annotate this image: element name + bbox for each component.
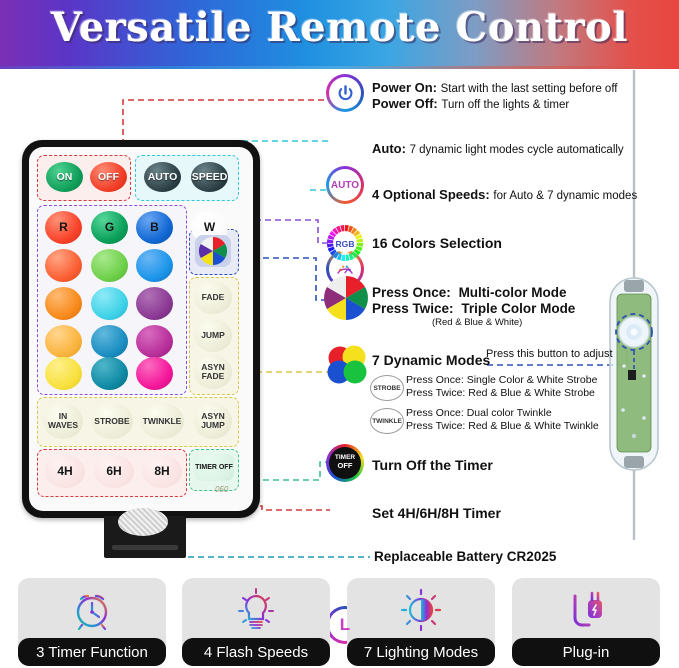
strobe-badge-icon: STROBE — [370, 375, 404, 401]
remote-button-on[interactable]: ON — [46, 162, 83, 192]
remote-button-twinkle[interactable]: TWINKLE — [140, 403, 184, 439]
auto-line: Auto: 7 dynamic light modes cycle automa… — [372, 141, 624, 156]
battery-note-label: Replaceable Battery CR2025 — [374, 549, 556, 564]
triple-color-note: (Red & Blue & White) — [432, 317, 522, 328]
alarm-clock-icon — [18, 582, 166, 638]
color-pie-icon — [198, 236, 228, 266]
remote-button-strobe[interactable]: STROBE — [91, 403, 133, 439]
adjust-callout: Press this button to adjust — [486, 348, 613, 360]
remote-color-swatch[interactable] — [91, 249, 128, 282]
remote-button-off[interactable]: OFF — [90, 162, 127, 192]
remote-button-fade[interactable]: FADE — [194, 281, 232, 314]
remote-color-swatch[interactable] — [91, 287, 128, 320]
power-plug-icon — [512, 582, 660, 638]
remote-model-code: 050 — [215, 485, 228, 494]
remote-color-r[interactable]: R — [45, 211, 82, 244]
press-once-label: Press Once: — [372, 285, 451, 300]
auto-icon-label: AUTO — [326, 166, 364, 204]
remote-color-swatch[interactable] — [45, 357, 82, 390]
header-underline — [0, 66, 679, 69]
auto-icon: AUTO — [326, 166, 364, 204]
power-on-label: Power On: — [372, 80, 437, 95]
remote-color-g[interactable]: G — [91, 211, 128, 244]
remote-color-swatch[interactable] — [136, 249, 173, 282]
asyn-fade-l2: FADE — [202, 372, 225, 381]
press-twice-label: Press Twice: — [372, 301, 454, 316]
remote-button-8h[interactable]: 8H — [142, 455, 182, 488]
feature-card-plugin[interactable]: Plug-in — [512, 578, 660, 666]
press-twice-line: Press Twice: Triple Color Mode — [372, 301, 575, 316]
remote-color-swatch[interactable] — [45, 287, 82, 320]
timer-off-icon: TIMER OFF — [326, 444, 364, 482]
remote-button-jump[interactable]: JUMP — [194, 319, 232, 352]
battery-tray-slot — [112, 545, 178, 550]
auto-label: Auto: — [372, 141, 406, 156]
remote-button-6h[interactable]: 6H — [94, 455, 134, 488]
auto-desc: 7 dynamic light modes cycle automaticall… — [410, 144, 624, 156]
card-label: Plug-in — [512, 638, 660, 666]
turn-off-timer-label: Turn Off the Timer — [372, 457, 493, 473]
feature-card-modes[interactable]: 7 Lighting Modes — [347, 578, 495, 666]
remote-color-swatch[interactable] — [45, 325, 82, 358]
remote-faceplate: ON OFF AUTO SPEED R G B W — [29, 147, 253, 511]
colors-selection-label: 16 Colors Selection — [372, 235, 502, 251]
speed-desc: for Auto & 7 dynamic modes — [493, 190, 637, 202]
press-twice-desc: Triple Color Mode — [461, 301, 575, 316]
press-once-desc: Multi-color Mode — [459, 285, 567, 300]
twinkle-badge-icon: TWINKLE — [370, 408, 404, 434]
remote-button-auto[interactable]: AUTO — [144, 162, 181, 192]
speed-label: 4 Optional Speeds: — [372, 187, 490, 202]
timer-off-inner: TIMER OFF — [329, 447, 361, 479]
remote-button-multicolor[interactable] — [195, 235, 231, 267]
remote-color-swatch[interactable] — [136, 357, 173, 390]
remote-color-swatch[interactable] — [91, 325, 128, 358]
battery-cr2025 — [118, 508, 168, 536]
press-once-line: Press Once: Multi-color Mode — [372, 285, 567, 300]
speed-line: 4 Optional Speeds: for Auto & 7 dynamic … — [372, 187, 637, 202]
clock-l-glyph: L — [326, 606, 364, 644]
power-on-desc: Start with the last setting before off — [441, 83, 618, 95]
remote-button-speed[interactable]: SPEED — [191, 162, 228, 192]
remote-color-swatch[interactable] — [91, 357, 128, 390]
feature-card-speeds[interactable]: 4 Flash Speeds — [182, 578, 330, 666]
power-off-line: Power Off: Turn off the lights & timer — [372, 96, 569, 111]
remote-color-b[interactable]: B — [136, 211, 173, 244]
remote-button-timer-off[interactable]: TIMER OFF — [194, 454, 234, 481]
speed-gauge-icon — [326, 250, 364, 288]
four-circles-icon — [324, 342, 370, 388]
strobe-line2: Press Twice: Red & Blue & White Strobe — [406, 387, 595, 399]
power-off-desc: Turn off the lights & timer — [441, 99, 569, 111]
remote-button-4h[interactable]: 4H — [45, 455, 85, 488]
card-label: 3 Timer Function — [18, 638, 166, 666]
card-label: 7 Lighting Modes — [347, 638, 495, 666]
remote-button-in-waves[interactable]: IN WAVES — [43, 403, 83, 439]
remote-color-swatch[interactable] — [45, 249, 82, 282]
timer-off-bottom: OFF — [338, 461, 353, 471]
remote-button-asyn-fade[interactable]: ASYN FADE — [194, 355, 232, 389]
remote-color-swatch[interactable] — [136, 287, 173, 320]
strobe-line1: Press Once: Single Color & White Strobe — [406, 374, 597, 386]
remote-color-swatch[interactable] — [136, 325, 173, 358]
power-icon — [326, 74, 364, 112]
power-on-line: Power On: Start with the last setting be… — [372, 80, 618, 95]
remote-control-body: ON OFF AUTO SPEED R G B W — [22, 140, 260, 518]
remote-button-asyn-jump[interactable]: ASYN JUMP — [194, 403, 232, 439]
light-bulb-icon — [182, 582, 330, 638]
card-label: 4 Flash Speeds — [182, 638, 330, 666]
dynamic-modes-label: 7 Dynamic Modes — [372, 352, 490, 368]
set-timer-label: Set 4H/6H/8H Timer — [372, 505, 501, 521]
asyn-jump-l2: JUMP — [201, 421, 225, 430]
half-sun-icon — [347, 582, 495, 638]
twinkle-line1: Press Once: Dual color Twinkle — [406, 407, 552, 419]
twinkle-line2: Press Twice: Red & Blue & White Twinkle — [406, 420, 599, 432]
page-title: Versatile Remote Control — [0, 4, 679, 51]
svg-text:RGB: RGB — [336, 239, 355, 249]
power-off-label: Power Off: — [372, 96, 438, 111]
feature-card-timer[interactable]: 3 Timer Function — [18, 578, 166, 666]
clock-l-icon: L — [326, 606, 364, 644]
in-waves-l2: WAVES — [48, 421, 78, 430]
